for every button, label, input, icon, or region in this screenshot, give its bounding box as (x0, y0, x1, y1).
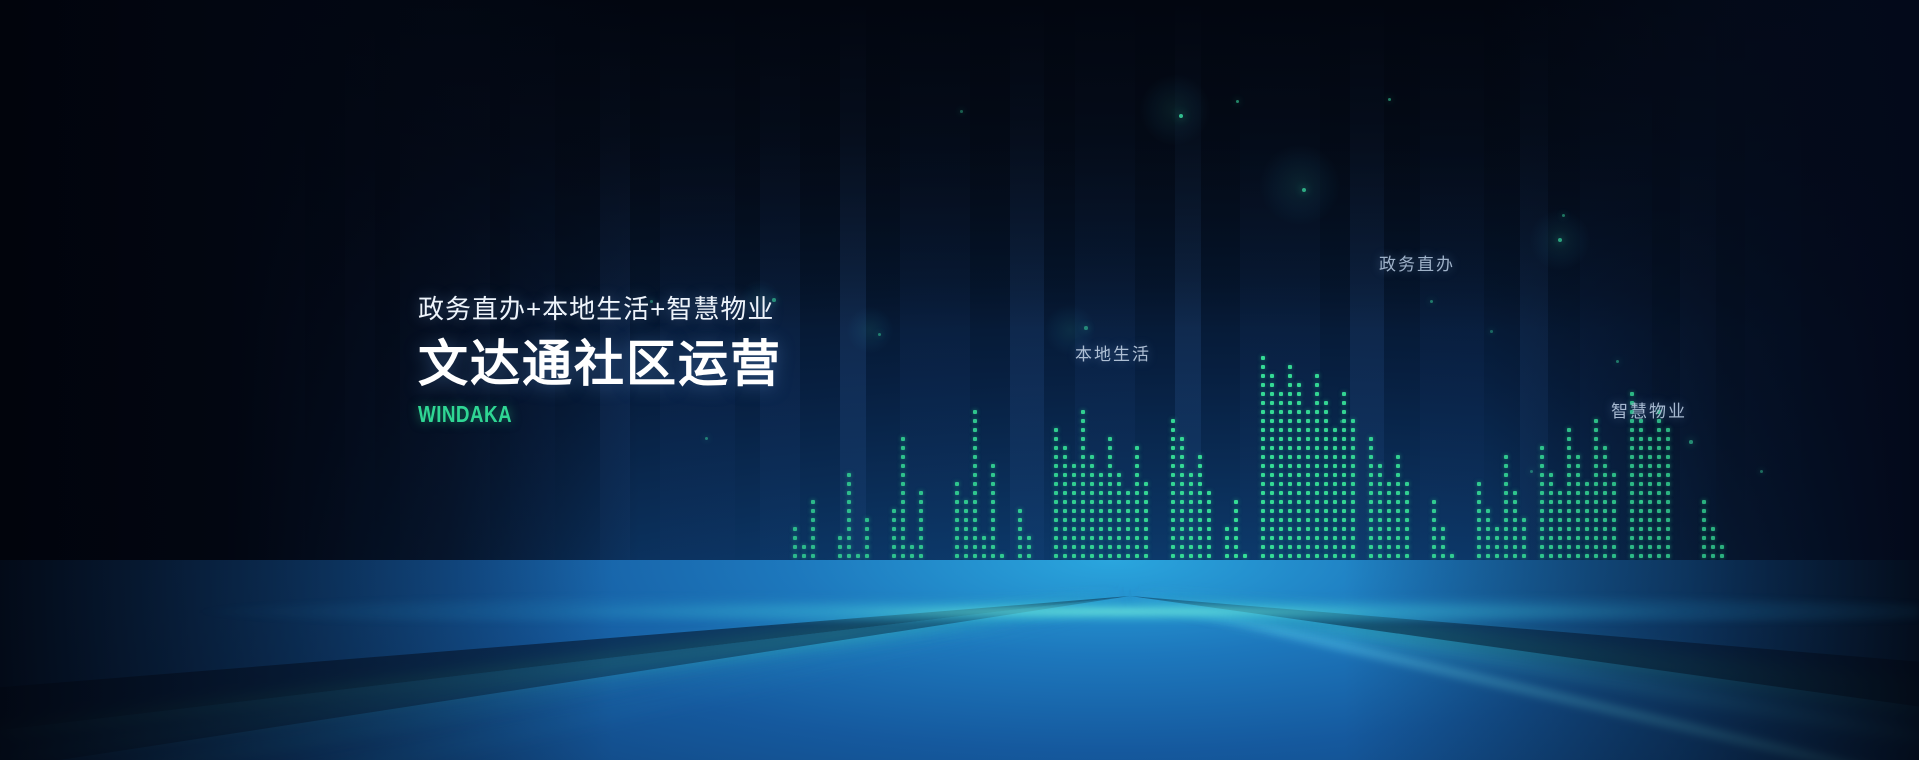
bar-dot (1666, 527, 1670, 531)
bar-dot (1432, 509, 1436, 513)
bar-dot (973, 536, 977, 540)
bar-dot (973, 509, 977, 513)
bar-dot (1585, 482, 1589, 486)
bar-dot (1189, 491, 1193, 495)
bar-dot (1567, 464, 1571, 468)
bar-dot (1054, 473, 1058, 477)
bar-dot (1081, 518, 1085, 522)
bar-dot (1333, 545, 1337, 549)
bar-dot (1090, 455, 1094, 459)
bar-dot (1630, 482, 1634, 486)
bar-dot (1324, 401, 1328, 405)
bar-dot (1513, 491, 1517, 495)
bar-dot (1270, 518, 1274, 522)
bar-dot (1207, 518, 1211, 522)
hero-banner: 本地生活政务直办智慧物业 政务直办+本地生活+智慧物业 文达通社区运营 WIND… (0, 0, 1919, 760)
bar-dot (1072, 491, 1076, 495)
bar-dot (1288, 437, 1292, 441)
bar-dot (1054, 491, 1058, 495)
bar-dot (1171, 545, 1175, 549)
bar-dot (1297, 419, 1301, 423)
bar-dot (1144, 500, 1148, 504)
bar-dot (1018, 527, 1022, 531)
bar-dot (1315, 428, 1319, 432)
bar-dot (1144, 536, 1148, 540)
bar-dot (1666, 464, 1670, 468)
bar-dot (1288, 509, 1292, 513)
bar-dot (1504, 482, 1508, 486)
bar-dot (1369, 455, 1373, 459)
bar-dot (1225, 536, 1229, 540)
bar-dot (1261, 509, 1265, 513)
bar-dot (1387, 482, 1391, 486)
bar-dot (1648, 464, 1652, 468)
bar-dot (1279, 491, 1283, 495)
bar-dot (1495, 536, 1499, 540)
bar-dot (1315, 500, 1319, 504)
bar-dot (1378, 554, 1382, 558)
bar-dot (1369, 554, 1373, 558)
bar-dot (1054, 545, 1058, 549)
bar-dot (1189, 500, 1193, 504)
bar-dot (973, 554, 977, 558)
bar-dot (1351, 455, 1355, 459)
bar-dot (910, 554, 914, 558)
bar-dot (1333, 554, 1337, 558)
bar-dot (1261, 473, 1265, 477)
bar-dot (1351, 428, 1355, 432)
bar-dot (1306, 437, 1310, 441)
bar-dot (1630, 455, 1634, 459)
bar-dot (1711, 536, 1715, 540)
bar-dot (1288, 554, 1292, 558)
bar-dot (1333, 500, 1337, 504)
bar-dot (1504, 509, 1508, 513)
bar-dot (1612, 545, 1616, 549)
bar-dot (838, 554, 842, 558)
bar-dot (1504, 500, 1508, 504)
bar-dot (1486, 554, 1490, 558)
bar-dot (1549, 545, 1553, 549)
bar-dot (1648, 545, 1652, 549)
bar-dot (1189, 509, 1193, 513)
bar-dot (1396, 509, 1400, 513)
bar-dot (1342, 554, 1346, 558)
bar-dot (1324, 536, 1328, 540)
bar-dot (1117, 536, 1121, 540)
bar-dot (1315, 554, 1319, 558)
bar-dot (1063, 527, 1067, 531)
bar-dot (1585, 518, 1589, 522)
bar-dot (1297, 410, 1301, 414)
bar-dot (1171, 473, 1175, 477)
bar-dot (1198, 554, 1202, 558)
bar-dot (1441, 545, 1445, 549)
hero-title: 文达通社区运营 (418, 339, 782, 389)
horizon-glow (0, 596, 1919, 622)
bar-dot (1135, 446, 1139, 450)
skyline-label-3: 智慧物业 (1611, 397, 1687, 422)
bar-dot (1297, 464, 1301, 468)
bar-dot (1117, 554, 1121, 558)
bar-dot (1378, 500, 1382, 504)
bar-dot (1351, 437, 1355, 441)
bar-dot (1306, 473, 1310, 477)
bar-dot (1351, 419, 1355, 423)
bar-dot (1585, 545, 1589, 549)
bar-dot (1378, 491, 1382, 495)
bar-dot (1648, 509, 1652, 513)
bar-dot (892, 536, 896, 540)
bar-dot (1369, 527, 1373, 531)
bar-dot (1612, 518, 1616, 522)
bar-dot (1261, 410, 1265, 414)
bar-dot (1306, 545, 1310, 549)
bar-dot (1099, 518, 1103, 522)
bar-dot (1477, 500, 1481, 504)
bar-dot (1135, 545, 1139, 549)
bar-dot (1108, 518, 1112, 522)
bar-dot (1630, 500, 1634, 504)
bar-dot (1396, 455, 1400, 459)
bar-dot (1171, 554, 1175, 558)
bar-dot (1477, 509, 1481, 513)
bar-dot (1081, 500, 1085, 504)
bar-dot (1657, 446, 1661, 450)
bar-dot (1342, 500, 1346, 504)
bar-dot (1054, 428, 1058, 432)
bar-dot (1648, 500, 1652, 504)
bar-dot (1576, 500, 1580, 504)
bar-dot (1297, 500, 1301, 504)
bar-dot (1567, 446, 1571, 450)
bar-dot (1108, 536, 1112, 540)
bar-dot (1171, 518, 1175, 522)
bar-dot (1297, 545, 1301, 549)
bar-dot (1378, 473, 1382, 477)
bar-dot (1288, 365, 1292, 369)
bar-dot (1324, 509, 1328, 513)
bar-dot (982, 545, 986, 549)
bar-dot (1171, 428, 1175, 432)
bar-dot (1189, 518, 1193, 522)
bar-dot (1396, 464, 1400, 468)
bar-dot (1306, 446, 1310, 450)
bar-dot (1189, 545, 1193, 549)
bar-dot (1090, 482, 1094, 486)
bar-dot (1054, 518, 1058, 522)
bar-dot (1648, 437, 1652, 441)
bar-dot (1288, 419, 1292, 423)
bar-dot (1297, 428, 1301, 432)
bar-dot (847, 518, 851, 522)
bar-dot (1126, 545, 1130, 549)
bar-dot (1558, 545, 1562, 549)
bar-dot (1225, 527, 1229, 531)
bar-dot (1342, 446, 1346, 450)
bar-dot (1288, 491, 1292, 495)
bar-dot (1324, 545, 1328, 549)
bar-dot (1270, 554, 1274, 558)
bar-dot (1576, 464, 1580, 468)
bar-dot (1702, 527, 1706, 531)
bar-dot (1189, 482, 1193, 486)
bar-dot (991, 491, 995, 495)
bar-dot (1657, 527, 1661, 531)
bar-dot (1180, 464, 1184, 468)
bar-dot (1081, 419, 1085, 423)
bar-dot (856, 554, 860, 558)
bar-dot (1477, 482, 1481, 486)
bar-dot (1324, 527, 1328, 531)
bar-dot (901, 518, 905, 522)
bar-dot (1441, 536, 1445, 540)
bar-dot (1270, 437, 1274, 441)
bar-dot (1387, 491, 1391, 495)
bar-dot (1333, 437, 1337, 441)
bar-dot (1297, 455, 1301, 459)
bar-dot (955, 518, 959, 522)
bar-dot (1540, 554, 1544, 558)
bar-dot (1090, 473, 1094, 477)
bar-dot (1279, 518, 1283, 522)
bar-dot (1189, 473, 1193, 477)
bar-dot (1315, 419, 1319, 423)
bar-dot (1072, 509, 1076, 513)
bar-dot (1117, 527, 1121, 531)
bar-dot (1369, 545, 1373, 549)
bar-dot (1648, 482, 1652, 486)
bar-dot (1585, 509, 1589, 513)
bar-dot (1234, 554, 1238, 558)
bar-dot (1495, 527, 1499, 531)
bar-dot (1288, 527, 1292, 531)
bar-dot (1396, 536, 1400, 540)
bar-dot (1405, 554, 1409, 558)
bar-dot (1090, 500, 1094, 504)
bar-dot (973, 545, 977, 549)
bar-dot (1126, 554, 1130, 558)
bar-dot (991, 527, 995, 531)
bar-dot (1549, 491, 1553, 495)
bar-dot (1180, 554, 1184, 558)
bar-dot (1432, 518, 1436, 522)
bar-dot (1630, 392, 1634, 396)
bar-dot (1657, 491, 1661, 495)
bar-dot (1099, 527, 1103, 531)
bar-dot (1261, 383, 1265, 387)
bar-dot (1198, 455, 1202, 459)
bar-dot (1351, 482, 1355, 486)
bar-dot (1594, 428, 1598, 432)
bar-dot (1567, 437, 1571, 441)
bar-dot (1171, 491, 1175, 495)
bar-dot (1171, 527, 1175, 531)
bar-dot (1594, 536, 1598, 540)
bar-dot (1108, 473, 1112, 477)
bar-dot (793, 527, 797, 531)
bar-dot (1630, 491, 1634, 495)
bar-dot (991, 554, 995, 558)
bar-dot (1306, 410, 1310, 414)
bar-dot (1315, 527, 1319, 531)
bar-dot (955, 545, 959, 549)
bar-dot (1090, 545, 1094, 549)
bar-dot (1054, 536, 1058, 540)
bar-dot (1180, 473, 1184, 477)
bar-dot (1315, 392, 1319, 396)
bar-dot (1270, 374, 1274, 378)
bar-dot (919, 491, 923, 495)
bar-dot (1108, 500, 1112, 504)
bar-dot (1576, 473, 1580, 477)
bar-dot (1648, 554, 1652, 558)
bar-dot (1486, 509, 1490, 513)
bar-dot (1180, 455, 1184, 459)
bar-dot (955, 536, 959, 540)
bar-dot (1486, 518, 1490, 522)
bar-dot (1225, 545, 1229, 549)
bar-dot (1324, 482, 1328, 486)
bar-dot (1333, 482, 1337, 486)
bar-dot (1585, 500, 1589, 504)
bar-dot (1558, 554, 1562, 558)
bar-dot (1180, 545, 1184, 549)
bar-dot (1126, 491, 1130, 495)
bar-dot (901, 473, 905, 477)
bar-dot (1261, 392, 1265, 396)
bar-dot (1540, 446, 1544, 450)
bar-dot (892, 554, 896, 558)
bar-dot (1540, 518, 1544, 522)
bar-dot (1387, 536, 1391, 540)
bar-dot (1315, 455, 1319, 459)
bar-dot (1666, 536, 1670, 540)
bar-dot (1090, 491, 1094, 495)
hero-text-block: 政务直办+本地生活+智慧物业 文达通社区运营 WINDAKA (418, 296, 782, 426)
bar-dot (1297, 401, 1301, 405)
bar-dot (1567, 455, 1571, 459)
bar-dot (1270, 446, 1274, 450)
bar-dot (1369, 464, 1373, 468)
bar-dot (1027, 545, 1031, 549)
bar-dot (1333, 428, 1337, 432)
bar-dot (1567, 554, 1571, 558)
bar-dot (1585, 536, 1589, 540)
bar-dot (847, 500, 851, 504)
bar-dot (1639, 473, 1643, 477)
bar-dot (838, 536, 842, 540)
bar-dot (955, 491, 959, 495)
bar-dot (1432, 545, 1436, 549)
bar-dot (1261, 365, 1265, 369)
bar-dot (811, 527, 815, 531)
bar-dot (973, 518, 977, 522)
bar-dot (1207, 545, 1211, 549)
bar-dot (1090, 518, 1094, 522)
bar-dot (1603, 545, 1607, 549)
bar-dot (1396, 545, 1400, 549)
bar-dot (1270, 482, 1274, 486)
bar-dot (901, 554, 905, 558)
bar-dot (1351, 518, 1355, 522)
bar-dot (1297, 554, 1301, 558)
bar-dot (847, 509, 851, 513)
bar-dot (1297, 491, 1301, 495)
bar-dot (1171, 419, 1175, 423)
bar-dot (1639, 536, 1643, 540)
bar-dot (1117, 518, 1121, 522)
bar-dot (1315, 473, 1319, 477)
bar-dot (1135, 473, 1139, 477)
bar-dot (1279, 473, 1283, 477)
bar-dot (1603, 518, 1607, 522)
bar-dot (1306, 500, 1310, 504)
bar-dot (1297, 383, 1301, 387)
bar-dot (1567, 482, 1571, 486)
bar-dot (1648, 518, 1652, 522)
bar-dot (1657, 473, 1661, 477)
bar-dot (1297, 437, 1301, 441)
bar-dot (1594, 482, 1598, 486)
bar-dot (1324, 464, 1328, 468)
bar-dot (1495, 554, 1499, 558)
bar-dot (1342, 473, 1346, 477)
bar-dot (1306, 518, 1310, 522)
bar-dot (1063, 500, 1067, 504)
bar-dot (811, 545, 815, 549)
bar-dot (1351, 545, 1355, 549)
bar-dot (1315, 437, 1319, 441)
bar-dot (1207, 536, 1211, 540)
bar-dot (1270, 428, 1274, 432)
bar-dot (1540, 473, 1544, 477)
bar-dot (1369, 509, 1373, 513)
bar-dot (901, 500, 905, 504)
bar-dot (991, 518, 995, 522)
bar-dot (991, 545, 995, 549)
bar-dot (1099, 482, 1103, 486)
bar-dot (1126, 518, 1130, 522)
bar-dot (1603, 446, 1607, 450)
bar-dot (1639, 491, 1643, 495)
bar-dot (1306, 527, 1310, 531)
bar-dot (1279, 545, 1283, 549)
bar-dot (973, 527, 977, 531)
bar-dot (964, 536, 968, 540)
bar-dot (1504, 518, 1508, 522)
bar-dot (1297, 473, 1301, 477)
bar-dot (1666, 446, 1670, 450)
bar-dot (1198, 527, 1202, 531)
bar-dot (1054, 455, 1058, 459)
bar-dot (1135, 554, 1139, 558)
bar-dot (1666, 482, 1670, 486)
bar-dot (1657, 437, 1661, 441)
bar-dot (1324, 428, 1328, 432)
bar-dot (982, 554, 986, 558)
bar-dot (1612, 482, 1616, 486)
bar-dot (1405, 482, 1409, 486)
bar-dot (1369, 518, 1373, 522)
bar-dot (1378, 464, 1382, 468)
bar-dot (1018, 536, 1022, 540)
bar-dot (1126, 500, 1130, 504)
bar-dot (991, 473, 995, 477)
bar-dot (1657, 500, 1661, 504)
bar-dot (955, 482, 959, 486)
bar-dot (1198, 464, 1202, 468)
